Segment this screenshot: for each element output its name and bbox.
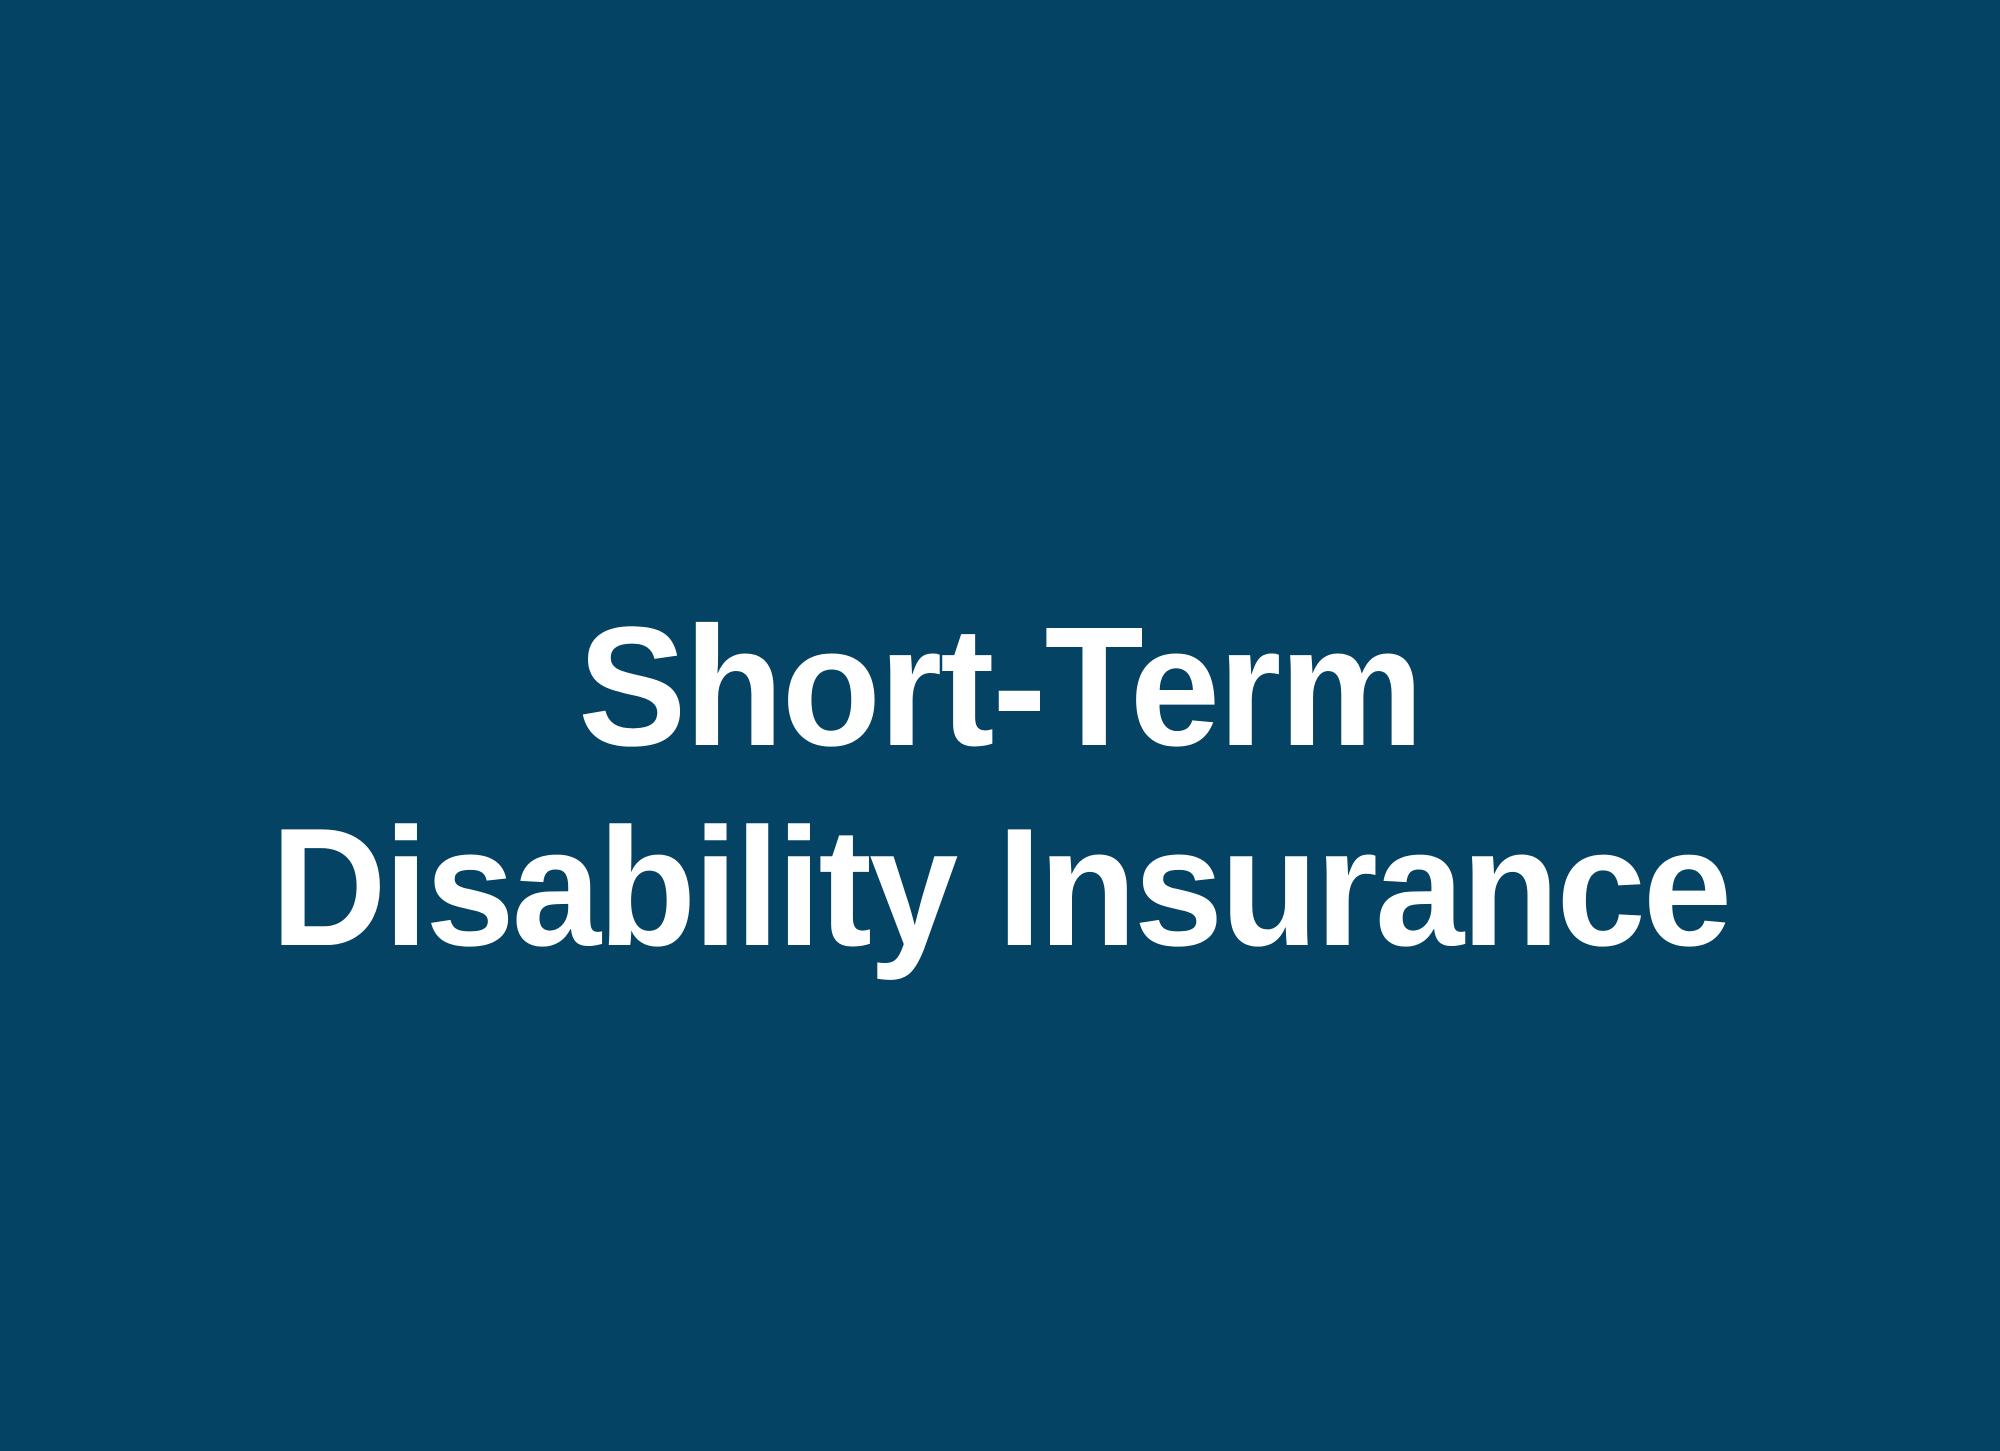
page-title-line-2: Disability Insurance [83,787,1917,987]
page-title-line-1: Short-Term [83,587,1917,787]
title-slide: Short-Term Disability Insurance [0,0,2000,1451]
page-title: Short-Term Disability Insurance [0,587,2000,987]
